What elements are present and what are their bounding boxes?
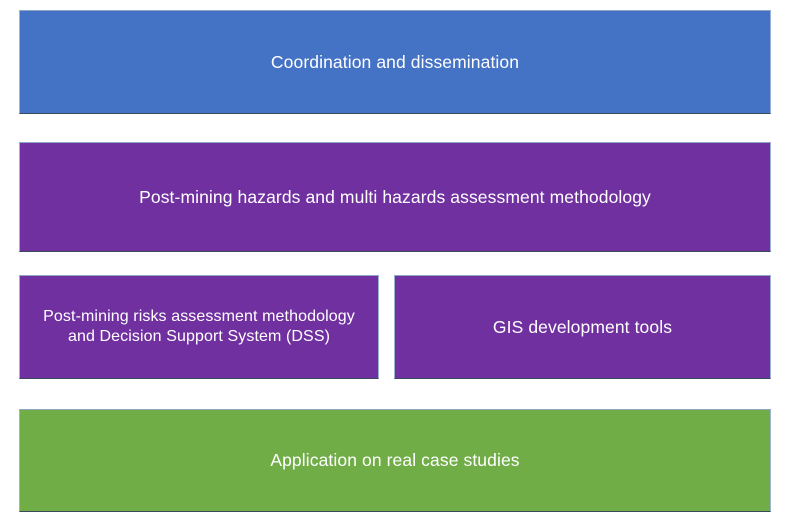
block-diagram: Coordination and dissemination Post-mini…	[0, 0, 790, 521]
block-coordination-and-dissemination[interactable]: Coordination and dissemination	[19, 10, 771, 114]
block-label: Coordination and dissemination	[34, 51, 756, 73]
block-post-mining-risks-assessment-dss[interactable]: Post-mining risks assessment methodology…	[19, 275, 379, 379]
block-application-on-real-case-studies[interactable]: Application on real case studies	[19, 409, 771, 512]
block-post-mining-hazards-methodology[interactable]: Post-mining hazards and multi hazards as…	[19, 142, 771, 252]
block-label: Post-mining hazards and multi hazards as…	[34, 186, 756, 208]
block-gis-development-tools[interactable]: GIS development tools	[394, 275, 771, 379]
block-label: GIS development tools	[409, 316, 756, 338]
block-label: Application on real case studies	[34, 449, 756, 471]
block-label: Post-mining risks assessment methodology…	[34, 307, 364, 348]
